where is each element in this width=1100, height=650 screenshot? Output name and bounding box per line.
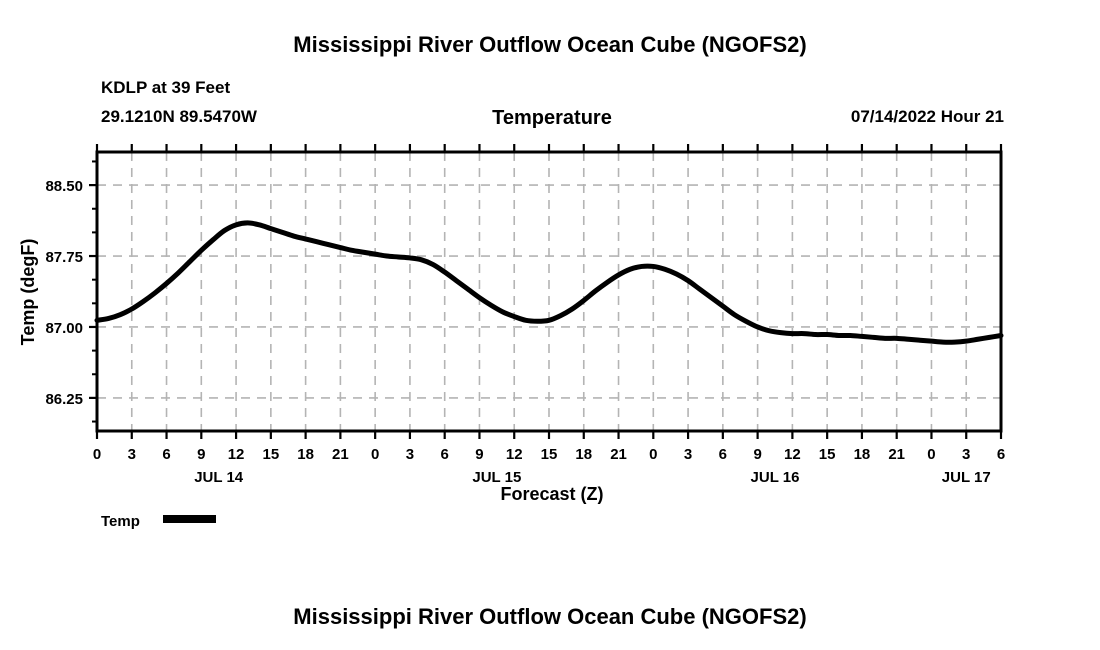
x-tick-label-hour: 3	[406, 446, 414, 463]
y-axis-title: Temp (degF)	[18, 239, 38, 346]
x-tick-label-hour: 6	[162, 446, 170, 463]
x-tick-label-hour: 0	[93, 446, 101, 463]
x-tick-label-hour: 18	[575, 446, 592, 463]
x-tick-label-hour: 18	[854, 446, 871, 463]
x-tick-label-hour: 0	[371, 446, 379, 463]
y-tick-label: 86.25	[45, 391, 83, 408]
y-tick-label: 88.50	[45, 178, 83, 195]
x-axis-day-label: JUL 14	[194, 469, 244, 486]
x-tick-label-hour: 6	[441, 446, 449, 463]
x-tick-label-hour: 18	[297, 446, 314, 463]
canvas-background	[0, 0, 1100, 650]
x-axis-day-label: JUL 17	[942, 469, 991, 486]
legend-item-label: Temp	[101, 513, 140, 530]
x-axis-title: Forecast (Z)	[500, 484, 603, 504]
chart-title-bottom: Mississippi River Outflow Ocean Cube (NG…	[293, 604, 806, 629]
x-tick-label-hour: 9	[753, 446, 761, 463]
x-tick-label-hour: 6	[997, 446, 1005, 463]
station-coordinates-label: 29.1210N 89.5470W	[101, 107, 258, 126]
x-tick-label-hour: 3	[962, 446, 970, 463]
x-tick-label-hour: 3	[684, 446, 692, 463]
x-tick-label-hour: 6	[719, 446, 727, 463]
x-tick-label-hour: 12	[784, 446, 801, 463]
x-tick-label-hour: 0	[649, 446, 657, 463]
x-tick-label-hour: 12	[228, 446, 245, 463]
x-tick-label-hour: 21	[888, 446, 905, 463]
x-tick-label-hour: 3	[128, 446, 136, 463]
station-depth-label: KDLP at 39 Feet	[101, 78, 230, 97]
x-tick-label-hour: 21	[332, 446, 349, 463]
x-tick-label-hour: 0	[927, 446, 935, 463]
variable-name-label: Temperature	[492, 107, 612, 129]
x-tick-label-hour: 15	[541, 446, 558, 463]
x-tick-label-hour: 12	[506, 446, 523, 463]
x-tick-label-hour: 9	[475, 446, 483, 463]
model-run-label: 07/14/2022 Hour 21	[851, 107, 1004, 126]
x-tick-label-hour: 9	[197, 446, 205, 463]
chart-title-top: Mississippi River Outflow Ocean Cube (NG…	[293, 32, 806, 57]
x-axis-hour-labels: 036912151821036912151821036912151821036	[93, 446, 1005, 463]
y-tick-label: 87.75	[45, 249, 83, 266]
x-tick-label-hour: 21	[610, 446, 627, 463]
y-tick-label: 87.00	[45, 320, 83, 337]
forecast-chart-figure: Mississippi River Outflow Ocean Cube (NG…	[0, 0, 1100, 650]
x-axis-day-label: JUL 16	[751, 469, 800, 486]
x-tick-label-hour: 15	[819, 446, 836, 463]
legend-line-swatch	[163, 515, 216, 523]
x-tick-label-hour: 15	[263, 446, 280, 463]
